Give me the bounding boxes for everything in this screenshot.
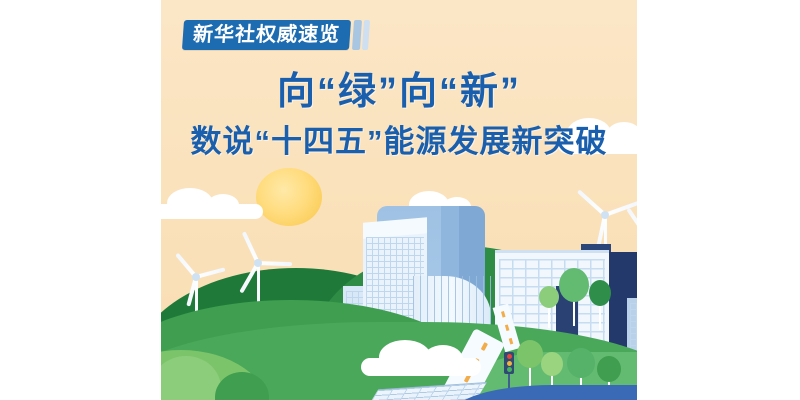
tree-leaf	[517, 340, 543, 368]
tree-3	[589, 280, 611, 330]
tree-leaf	[541, 352, 563, 376]
turbine-blade	[258, 261, 292, 266]
poster-image: 新华社权威速览 向“绿”向“新” 数说“十四五”能源发展新突破	[161, 0, 637, 400]
traffic-lamp-amber	[507, 361, 512, 366]
screenshot-canvas: 新华社权威速览 向“绿”向“新” 数说“十四五”能源发展新突破	[0, 0, 800, 400]
tree-leaf	[589, 280, 611, 306]
turbine-hub	[601, 211, 609, 219]
traffic-lamp-green	[507, 367, 512, 372]
sun-icon	[256, 168, 322, 226]
tree-leaf	[567, 348, 595, 378]
source-badge: 新华社权威速览	[183, 20, 369, 50]
traffic-light-housing	[504, 352, 514, 374]
badge-tail-1	[352, 20, 362, 50]
tree-leaf	[597, 356, 621, 382]
poster-title-sub: 数说“十四五”能源发展新突破	[161, 116, 637, 161]
badge-tail-2	[362, 20, 370, 50]
road-dash	[504, 325, 509, 332]
cloud-lower	[361, 358, 481, 376]
source-badge-label: 新华社权威速览	[182, 20, 351, 50]
road-dash	[508, 338, 513, 345]
poster-title-main: 向“绿”向“新”	[161, 60, 637, 115]
tree-1	[559, 268, 589, 326]
thin-right-building	[627, 298, 637, 354]
turbine-hub	[254, 259, 262, 267]
tree-2	[539, 286, 559, 328]
road-dash	[501, 311, 506, 318]
turbine-hub	[192, 273, 200, 281]
tree-4	[517, 340, 543, 392]
tree-leaf	[559, 268, 589, 302]
cloud-left	[161, 204, 263, 219]
traffic-lamp-red	[507, 354, 512, 359]
road-dash	[481, 342, 488, 351]
window-grid	[630, 303, 637, 352]
tree-leaf	[539, 286, 559, 308]
